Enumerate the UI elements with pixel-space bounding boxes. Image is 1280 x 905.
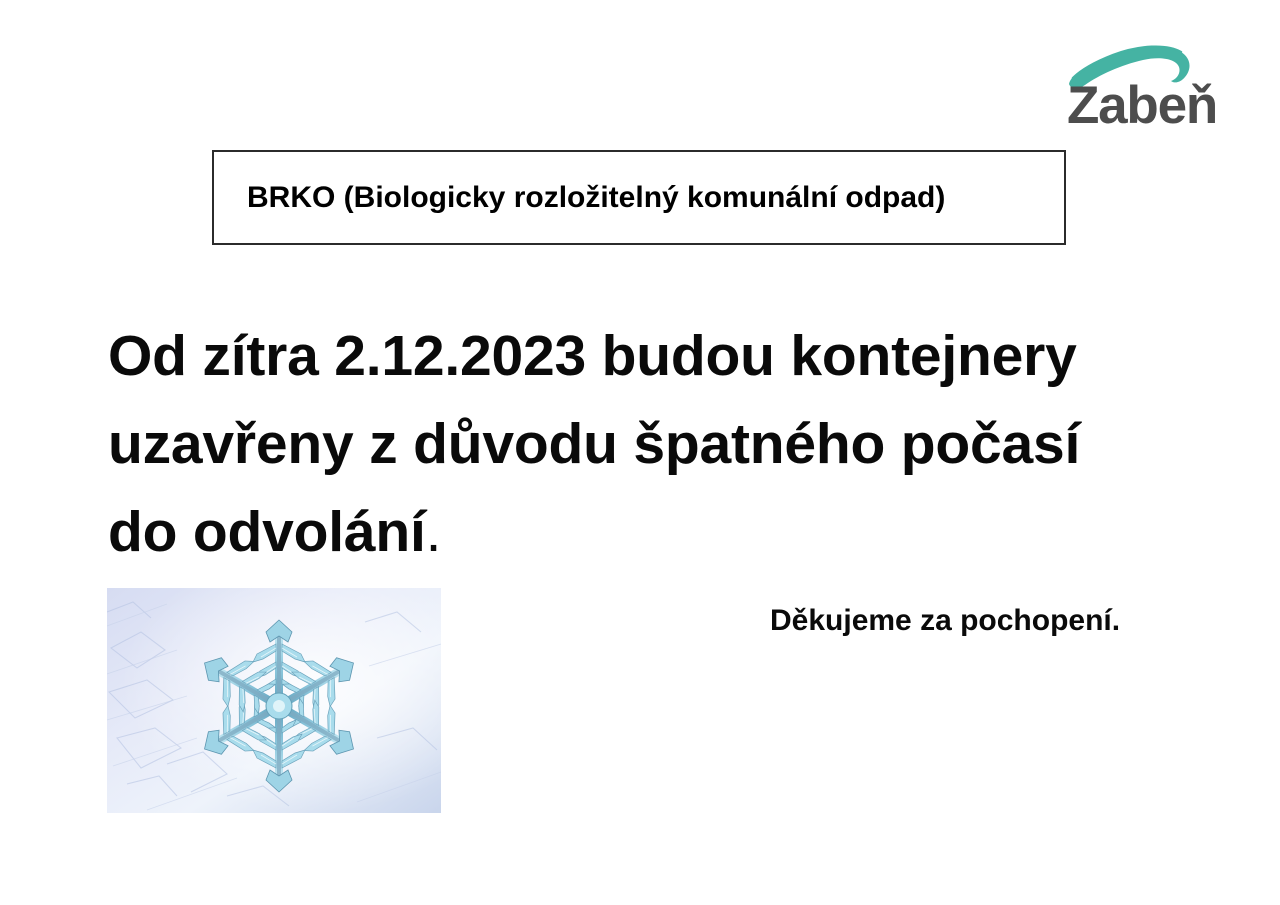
announcement-headline: Od zítra 2.12.2023 budou kontejnery uzav… bbox=[108, 312, 1198, 576]
headline-line-3-text: do odvolání bbox=[108, 500, 426, 564]
thanks-text: Děkujeme za pochopení. bbox=[770, 603, 1120, 639]
headline-line-2: uzavřeny z důvodu špatného počasí bbox=[108, 400, 1198, 488]
zaben-logo: Zabeň bbox=[1055, 38, 1225, 138]
headline-line-1: Od zítra 2.12.2023 budou kontejnery bbox=[108, 312, 1198, 400]
brko-title-box: BRKO (Biologicky rozložitelný komunální … bbox=[212, 150, 1066, 245]
headline-line-3: do odvolání. bbox=[108, 488, 1198, 576]
snowflake-photo bbox=[107, 588, 441, 813]
brko-title-text: BRKO (Biologicky rozložitelný komunální … bbox=[214, 181, 945, 215]
logo-wordmark: Zabeň bbox=[1057, 78, 1227, 134]
headline-period: . bbox=[426, 500, 442, 564]
snowflake-icon bbox=[107, 588, 441, 813]
